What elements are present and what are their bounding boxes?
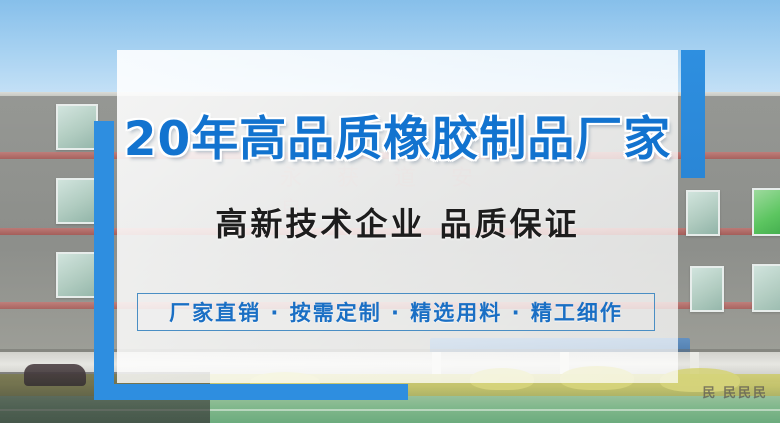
subheadline-text: 高新技术企业 品质保证 <box>117 199 678 245</box>
accent-bar-bottom <box>94 384 408 400</box>
accent-bar-left <box>94 121 114 400</box>
headline-text: 20年高品质橡胶制品厂家 <box>117 100 678 169</box>
accent-bar-top-right <box>681 50 705 178</box>
tagline-text: 厂家直销 · 按需定制 · 精选用料 · 精工细作 <box>169 297 623 327</box>
tagline-box: 厂家直销 · 按需定制 · 精选用料 · 精工细作 <box>137 293 655 331</box>
promo-banner: 永 获 道 安 良 民 民民民 20年高品质橡胶制品厂家 高新技术企业 品质保证… <box>0 0 780 423</box>
